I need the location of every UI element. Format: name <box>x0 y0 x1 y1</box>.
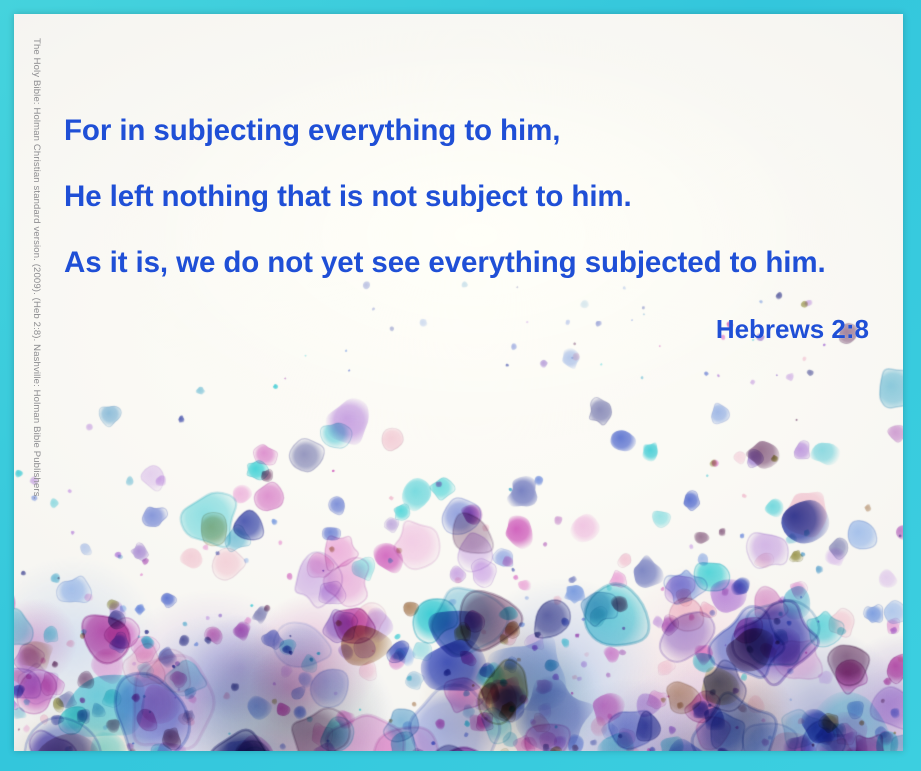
bible-source-credit: The Holy Bible: Holman Christian standar… <box>31 38 42 518</box>
verse-reference: Hebrews 2:8 <box>64 314 869 345</box>
verse-line-1: For in subjecting everything to him, <box>64 98 864 164</box>
verse-text-block: For in subjecting everything to him, He … <box>64 98 864 296</box>
artwork-panel: For in subjecting everything to him, He … <box>14 14 903 751</box>
verse-line-3: As it is, we do not yet see everything s… <box>64 230 864 296</box>
verse-image-card: For in subjecting everything to him, He … <box>0 0 921 771</box>
verse-line-2: He left nothing that is not subject to h… <box>64 164 864 230</box>
